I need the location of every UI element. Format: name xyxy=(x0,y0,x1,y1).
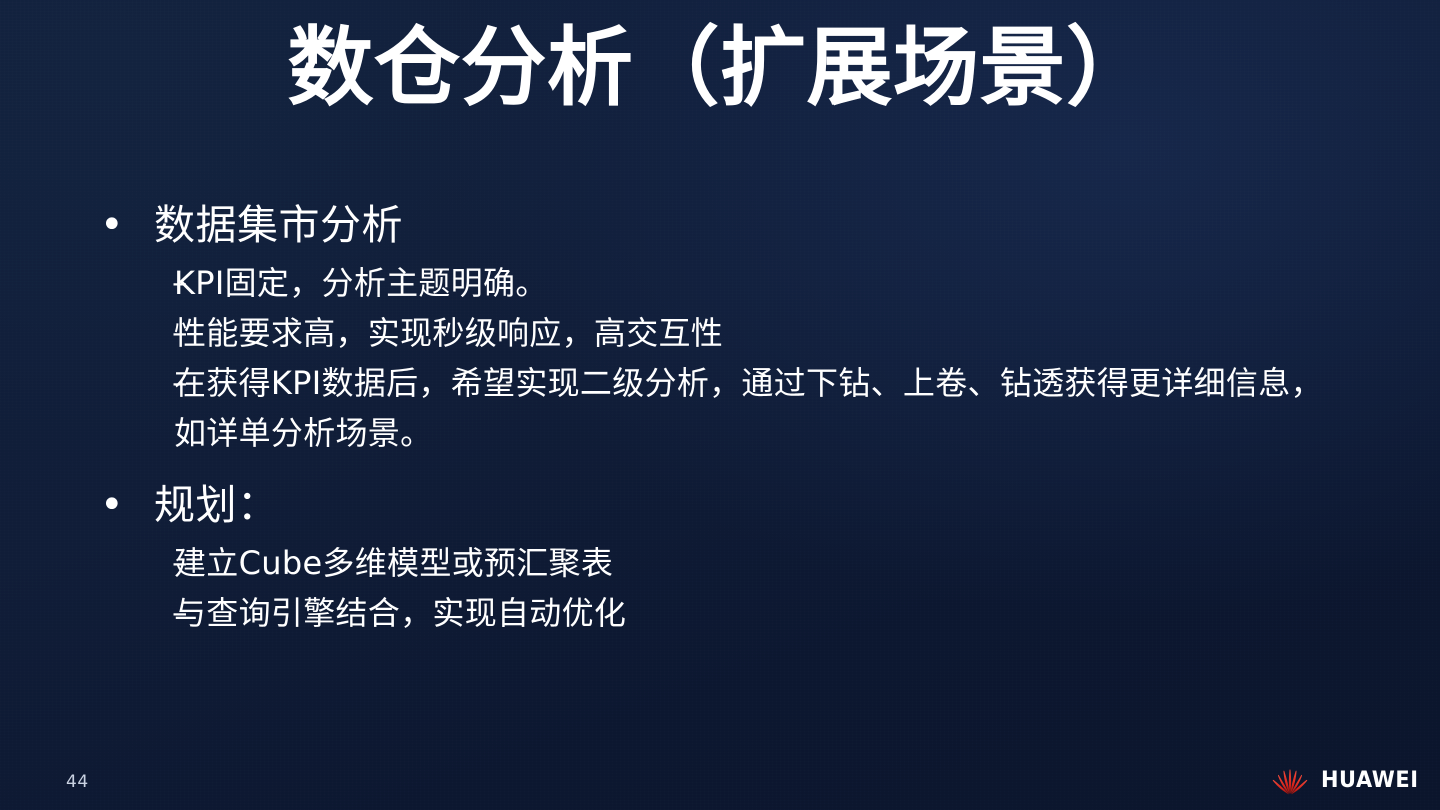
bullet-dot-icon: • xyxy=(92,194,154,256)
huawei-logo: HUAWEI xyxy=(1268,764,1424,798)
bullet-level2-label: 性能要求高，实现秒级响应，高交互性 xyxy=(174,308,723,358)
sub-bullet-group-data-mart: – KPI固定，分析主题明确。 – 性能要求高，实现秒级响应，高交互性 – 在获… xyxy=(92,258,1385,458)
bullet-level1-label: 数据集市分析 xyxy=(154,194,403,256)
dash-icon: – xyxy=(92,308,174,358)
slide-body-content: • 数据集市分析 – KPI固定，分析主题明确。 – 性能要求高，实现秒级响应，… xyxy=(92,192,1385,638)
dash-icon: – xyxy=(92,358,174,408)
bullet-level2-item: – 在获得KPI数据后，希望实现二级分析，通过下钻、上卷、钻透获得更详细信息，如… xyxy=(92,358,1385,458)
bullet-level2-label: 与查询引擎结合，实现自动优化 xyxy=(174,588,626,638)
huawei-wordmark: HUAWEI xyxy=(1321,770,1419,792)
sub-bullet-group-planning: – 建立Cube多维模型或预汇聚表 – 与查询引擎结合，实现自动优化 xyxy=(92,538,1385,638)
bullet-level2-item: – 性能要求高，实现秒级响应，高交互性 xyxy=(92,308,1385,358)
bullet-level1-label: 规划： xyxy=(154,474,279,536)
slide-canvas: 数仓分析（扩展场景） • 数据集市分析 – KPI固定，分析主题明确。 – 性能… xyxy=(0,0,1440,810)
bullet-level2-item: – 与查询引擎结合，实现自动优化 xyxy=(92,588,1385,638)
dash-icon: – xyxy=(92,258,174,308)
bullet-level1-data-mart: • 数据集市分析 xyxy=(92,194,1385,256)
page-number: 44 xyxy=(66,772,89,792)
bullet-level2-item: – 建立Cube多维模型或预汇聚表 xyxy=(92,538,1385,588)
dash-icon: – xyxy=(92,538,174,588)
bullet-level2-label: KPI固定，分析主题明确。 xyxy=(174,258,548,308)
huawei-flower-icon xyxy=(1268,767,1312,795)
page-title: 数仓分析（扩展场景） xyxy=(0,18,1440,119)
section-spacer xyxy=(92,458,1385,472)
bullet-level2-item: – KPI固定，分析主题明确。 xyxy=(92,258,1385,308)
bullet-level2-label: 在获得KPI数据后，希望实现二级分析，通过下钻、上卷、钻透获得更详细信息，如详单… xyxy=(174,358,1334,458)
bullet-dot-icon: • xyxy=(92,474,154,536)
dash-icon: – xyxy=(92,588,174,638)
bullet-level2-label: 建立Cube多维模型或预汇聚表 xyxy=(174,538,613,588)
bullet-level1-planning: • 规划： xyxy=(92,474,1385,536)
